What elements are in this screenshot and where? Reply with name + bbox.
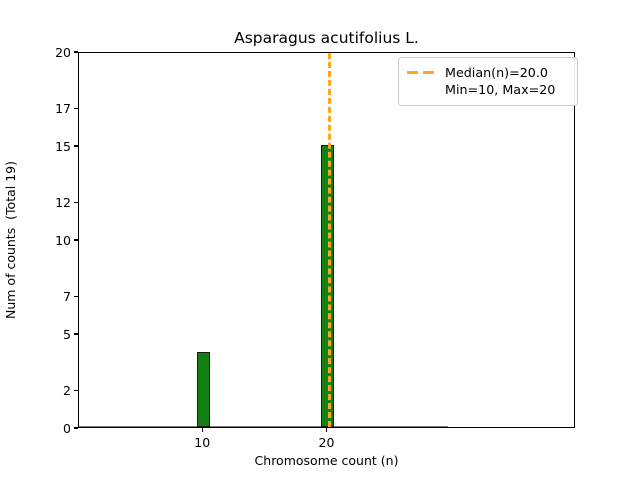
tick-mark bbox=[202, 428, 203, 432]
x-axis-label: Chromosome count (n) bbox=[78, 453, 575, 469]
chart-title: Asparagus acutifolius L. bbox=[78, 29, 575, 47]
tick-mark bbox=[74, 239, 78, 240]
median-line bbox=[328, 53, 331, 427]
legend-minmax-text: Min=10, Max=20 bbox=[445, 81, 555, 98]
y-axis-tick-label: 2 bbox=[63, 382, 71, 399]
tick-mark bbox=[326, 428, 327, 432]
legend-item-label: Median(n)=20.0 Min=10, Max=20 bbox=[445, 64, 555, 98]
y-axis-tick-label: 7 bbox=[63, 288, 71, 305]
y-axis-label-wrapper: Num of counts (Total 19) bbox=[0, 52, 22, 428]
tick-mark bbox=[74, 296, 78, 297]
x-axis-tick-label: 10 bbox=[162, 434, 242, 451]
legend-median-text: Median(n)=20.0 bbox=[445, 65, 548, 80]
y-axis-tick-label: 5 bbox=[63, 326, 71, 343]
y-axis-label: Num of counts (Total 19) bbox=[3, 161, 19, 319]
tick-mark bbox=[74, 145, 78, 146]
baseline-reference-line bbox=[79, 426, 448, 427]
legend-item-median: Median(n)=20.0 Min=10, Max=20 bbox=[407, 64, 569, 98]
tick-mark bbox=[74, 202, 78, 203]
x-axis-tick-label: 20 bbox=[287, 434, 367, 451]
y-axis-tick-label: 20 bbox=[55, 44, 71, 61]
y-axis-tick-label: 15 bbox=[55, 138, 71, 155]
tick-mark bbox=[74, 333, 78, 334]
y-axis-tick-label: 12 bbox=[55, 194, 71, 211]
figure-canvas: Asparagus acutifolius L. 02571012151720 … bbox=[0, 0, 640, 480]
y-axis-tick-label: 17 bbox=[55, 100, 71, 117]
dashed-line-icon bbox=[407, 64, 437, 81]
bar bbox=[197, 352, 210, 427]
tick-mark bbox=[74, 51, 78, 52]
y-axis-tick-label: 10 bbox=[55, 232, 71, 249]
y-axis-tick-label: 0 bbox=[63, 420, 71, 437]
tick-mark bbox=[74, 390, 78, 391]
legend-box: Median(n)=20.0 Min=10, Max=20 bbox=[398, 57, 578, 106]
tick-mark bbox=[74, 108, 78, 109]
plot-area bbox=[78, 52, 575, 428]
